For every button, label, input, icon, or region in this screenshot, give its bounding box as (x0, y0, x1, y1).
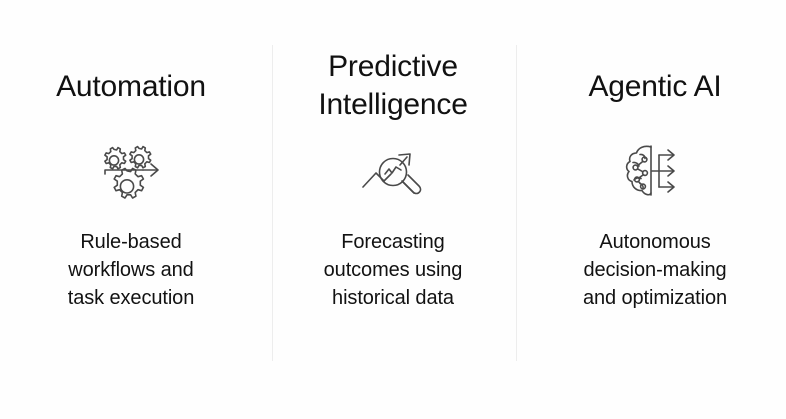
brain-branching-arrows-icon (524, 138, 786, 206)
column-description-agentic-ai: Autonomous decision-making and optimizat… (524, 228, 786, 312)
feature-column-predictive-intelligence: Predictive Intelligence Forecasting outc… (262, 0, 524, 419)
feature-column-automation: Automation (0, 0, 262, 419)
magnifier-trend-chart-icon (262, 138, 524, 206)
three-column-feature-board: Automation (0, 0, 786, 419)
gears-arrow-icon (0, 138, 262, 206)
feature-column-agentic-ai: Agentic AI (524, 0, 786, 419)
column-title-agentic-ai: Agentic AI (524, 68, 786, 106)
column-title-automation: Automation (0, 68, 262, 106)
column-title-predictive-intelligence: Predictive Intelligence (262, 48, 524, 124)
column-description-automation: Rule-based workflows and task execution (0, 228, 262, 312)
column-description-predictive-intelligence: Forecasting outcomes using historical da… (262, 228, 524, 312)
